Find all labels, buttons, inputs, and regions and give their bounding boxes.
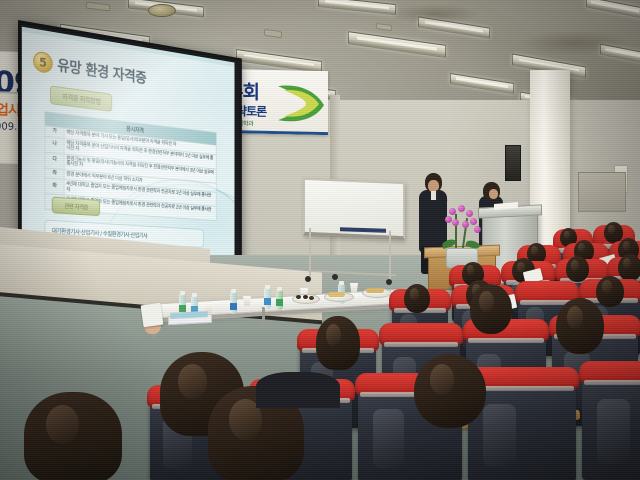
attendee-shoulders: [256, 372, 340, 408]
ceiling-stain: [390, 4, 480, 24]
orchid-bloom: [470, 218, 477, 225]
water-bottle: [264, 288, 271, 309]
orchid-bloom: [449, 208, 456, 215]
microphone-icon: [436, 190, 439, 201]
poster-highlight: 업시: [0, 99, 20, 120]
presenter-secondary-face: [489, 189, 498, 199]
row-key: 다: [45, 152, 64, 169]
row-key: 나: [45, 136, 64, 154]
attendee-head: [414, 354, 486, 428]
attendee-head: [604, 222, 623, 243]
row-key: 마: [45, 178, 64, 195]
whiteboard-caster: [386, 279, 392, 285]
lecture-hall-photo: 09 업시 009. 11. 수회 전략토론 환경공학과 5 유망 환경 자격증…: [0, 0, 640, 480]
ceiling-speaker-icon: [148, 4, 176, 17]
slide-button-bottom: 관련 자격증: [52, 196, 100, 216]
orchid-bloom: [452, 219, 459, 226]
orchid-bloom: [445, 216, 452, 223]
orchid-bloom: [462, 221, 469, 228]
attendee-head: [556, 298, 604, 354]
slide-button-top: 자격증 취득방법: [50, 85, 112, 112]
orchid-bloom: [466, 210, 473, 217]
ceiling-stain: [520, 30, 630, 56]
attendee-head: [596, 276, 624, 307]
attendee-head: [566, 256, 589, 282]
snack-item: [303, 295, 308, 299]
wall-speaker-icon: [505, 145, 521, 181]
whiteboard-caster: [305, 276, 311, 282]
snack-item: [328, 292, 345, 297]
orchid-bloom: [474, 226, 481, 233]
slide-badge: 5: [33, 50, 53, 74]
water-bottle: [230, 292, 237, 314]
attendee-head: [24, 392, 122, 480]
attendee-head: [618, 254, 640, 281]
paper-cup: [243, 296, 251, 306]
orchid-bloom: [458, 205, 465, 212]
swoosh-logo-icon: [274, 72, 328, 133]
whiteboard-leg: [389, 231, 391, 279]
attendee-head: [404, 284, 430, 313]
wall-recess: [578, 172, 626, 212]
water-bottle: [276, 290, 283, 310]
snack-item: [366, 288, 384, 293]
attendee-head: [470, 284, 512, 334]
whiteboard-caster: [332, 274, 338, 280]
snack-item: [296, 295, 301, 299]
slide-title: 유망 환경 자격증: [57, 54, 146, 87]
auditorium-seat[interactable]: [582, 368, 640, 480]
attendee-papers: [141, 303, 164, 328]
attendee-head: [316, 316, 360, 370]
paper-cup: [350, 283, 358, 293]
snack-item: [309, 296, 314, 300]
table-leg: [262, 307, 265, 327]
